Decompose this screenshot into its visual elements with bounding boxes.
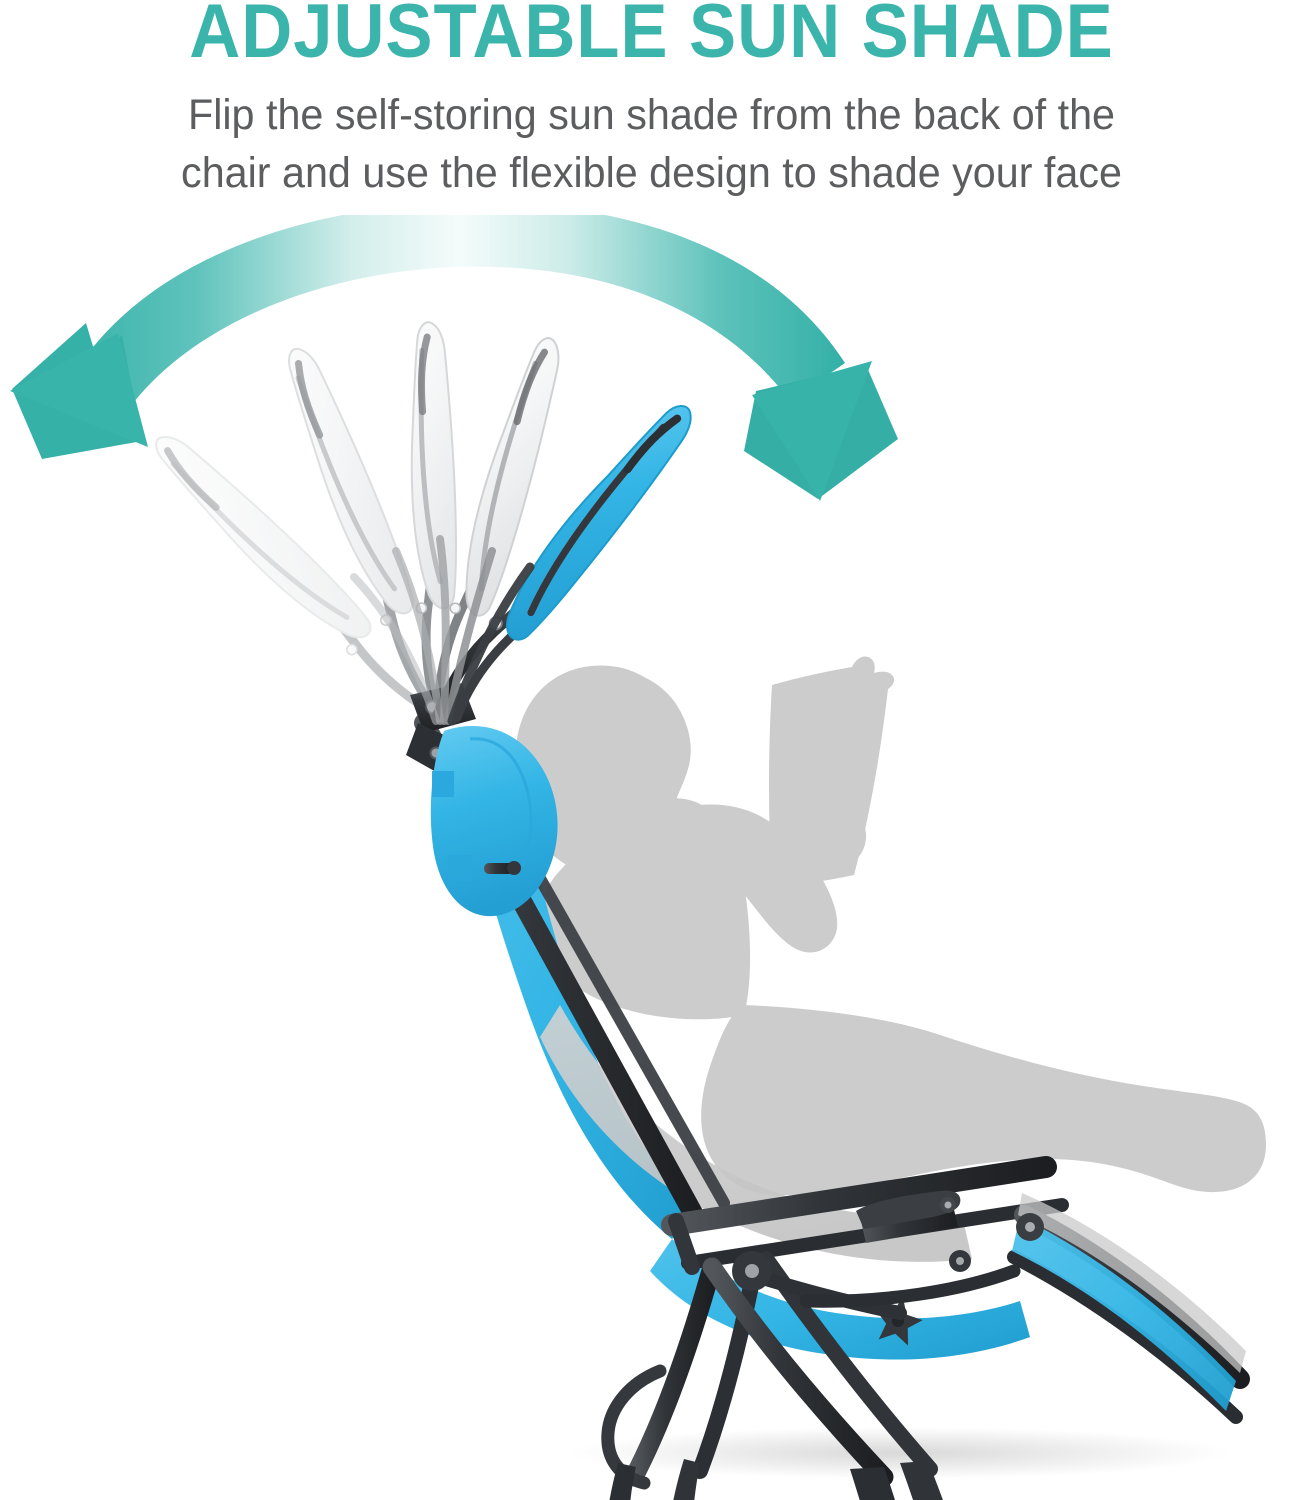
page-subtitle: Flip the self-storing sun shade from the… <box>0 86 1303 202</box>
leg-cross-hub <box>732 1251 772 1291</box>
subtitle-line-2: chair and use the flexible design to sha… <box>47 144 1256 202</box>
page-title: ADJUSTABLE SUN SHADE <box>46 0 1258 75</box>
silhouette-book <box>769 656 894 887</box>
arrow-arc <box>73 215 845 415</box>
infographic-page: ADJUSTABLE SUN SHADE Flip the self-stori… <box>0 0 1303 1500</box>
illustration-svg <box>0 215 1303 1500</box>
leg-support-strut-2 <box>806 1271 1014 1301</box>
product-illustration <box>0 215 1303 1500</box>
shade-ghost-positions <box>117 320 561 724</box>
subtitle-line-1: Flip the self-storing sun shade from the… <box>47 86 1256 144</box>
header: ADJUSTABLE SUN SHADE Flip the self-stori… <box>0 0 1303 215</box>
backrest-side-knob <box>484 861 521 875</box>
